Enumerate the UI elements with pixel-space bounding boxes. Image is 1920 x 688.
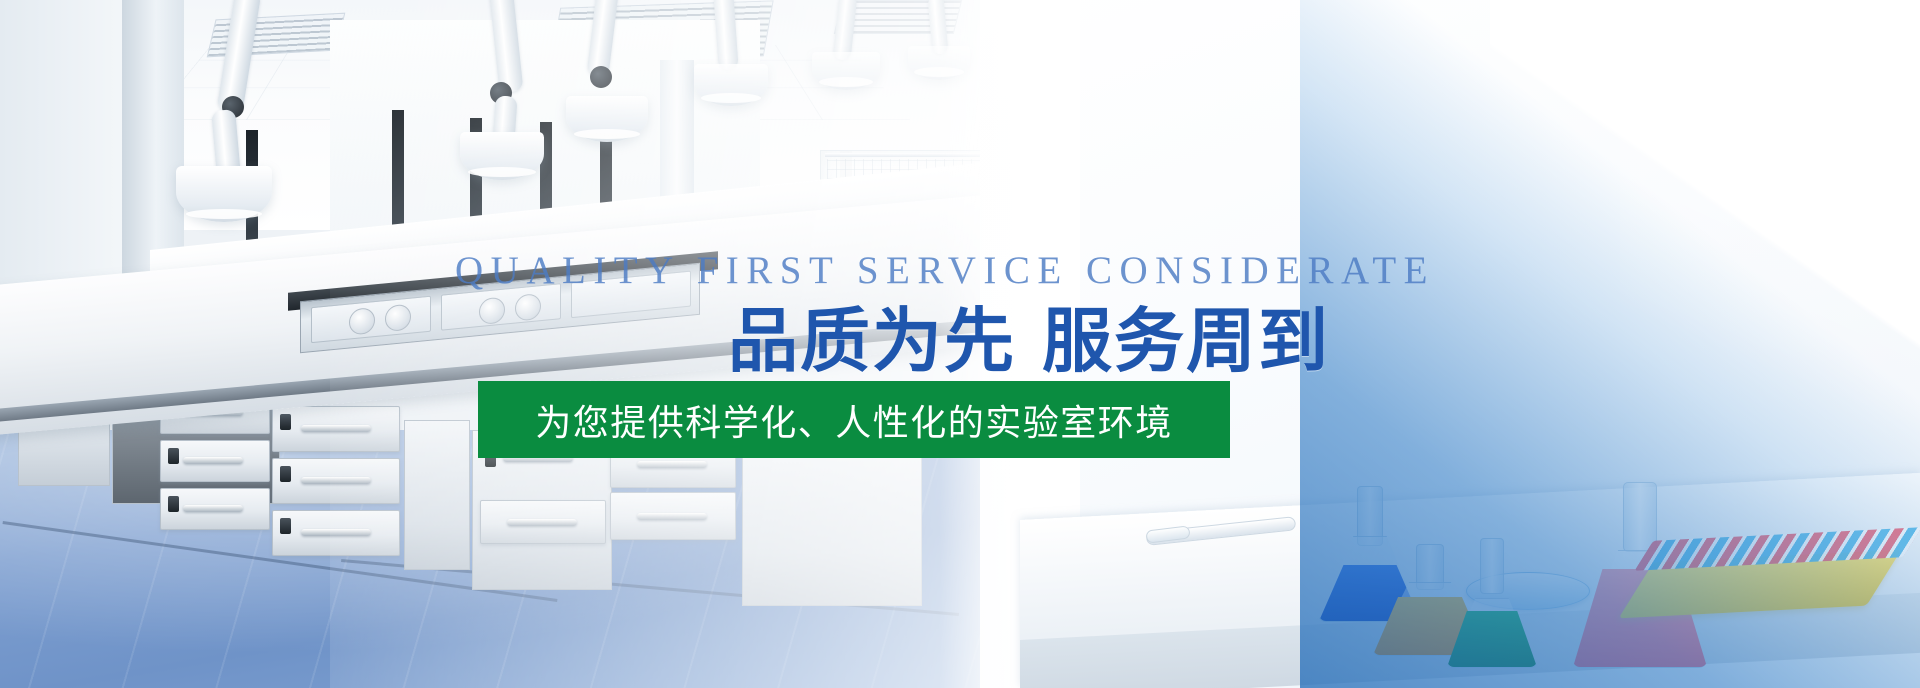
extractor-hood [176, 166, 272, 222]
drawer-handle [301, 425, 371, 432]
drawer-lock-icon [168, 448, 179, 464]
extractor-hood [694, 64, 768, 106]
drawer-handle [301, 477, 371, 484]
subtitle-text: 为您提供科学化、人性化的实验室环境 [535, 394, 1173, 446]
drawer-handle [507, 519, 577, 526]
drawer-lock-icon [280, 414, 291, 430]
drawer-handle [301, 529, 371, 536]
drawer [272, 406, 400, 452]
extractor-hood [566, 96, 648, 142]
extractor-hood [460, 132, 544, 180]
drawer [480, 500, 606, 544]
drawer-lock-icon [280, 518, 291, 534]
extractor-hood [812, 52, 880, 90]
drawer [610, 492, 736, 540]
drawer [272, 510, 400, 556]
headline-chinese: 品质为先服务周到 [728, 300, 1330, 383]
headline-part-1: 品质为先 [728, 302, 1016, 380]
hero-banner: QUALITY FIRST SERVICE CONSIDERATE 品质为先服务… [0, 0, 1920, 688]
drawer-handle [637, 513, 707, 520]
tagline-english: QUALITY FIRST SERVICE CONSIDERATE [455, 248, 1435, 293]
headline-part-2: 服务周到 [1042, 302, 1330, 380]
drawer-lock-icon [280, 466, 291, 482]
drawer-handle [183, 505, 243, 512]
drawer-handle [183, 457, 243, 464]
base-cabinet [404, 420, 470, 570]
flask-green [1446, 538, 1538, 668]
arm-joint [590, 66, 612, 88]
drawer-handle [637, 461, 707, 468]
drawer-lock-icon [168, 496, 179, 512]
subtitle-green-banner: 为您提供科学化、人性化的实验室环境 [478, 381, 1230, 458]
drawer [272, 458, 400, 504]
